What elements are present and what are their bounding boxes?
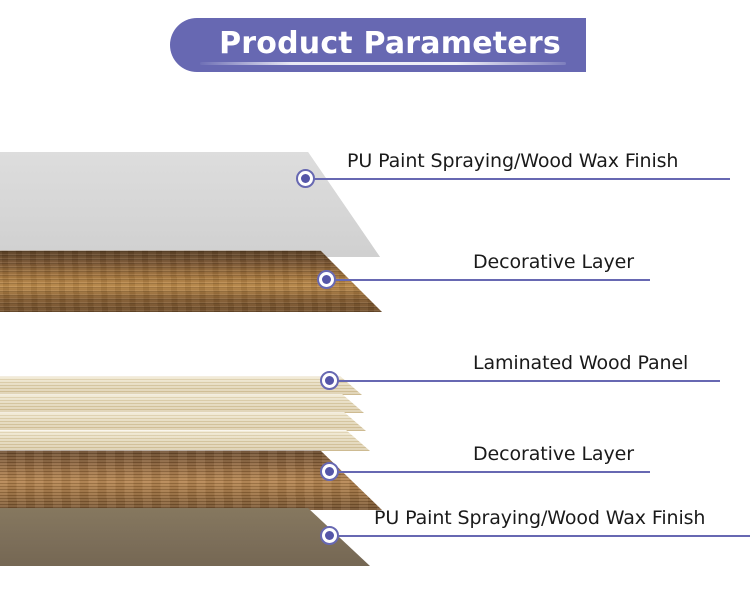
callout-line-bottom-decorative (328, 471, 650, 473)
callout-label-core-panel: Laminated Wood Panel (473, 352, 688, 374)
callout-label-bottom-decorative: Decorative Layer (473, 443, 634, 465)
layer-bottom-veneer (0, 450, 390, 514)
callout-label-top-decorative: Decorative Layer (473, 251, 634, 273)
callout-marker-core-panel[interactable] (320, 371, 339, 390)
callout-line-core-panel (328, 380, 720, 382)
callout-marker-bottom-decorative[interactable] (320, 462, 339, 481)
callout-label-top-finish: PU Paint Spraying/Wood Wax Finish (347, 150, 678, 172)
callout-label-bottom-finish: PU Paint Spraying/Wood Wax Finish (374, 507, 705, 529)
product-parameters-infographic: Product Parameters PU Paint Spraying/Woo… (0, 0, 750, 589)
callout-marker-bottom-finish[interactable] (320, 526, 339, 545)
callout-marker-top-finish[interactable] (296, 169, 315, 188)
layer-stack-illustration (0, 0, 400, 589)
callout-line-bottom-finish (328, 535, 750, 537)
callout-line-top-decorative (325, 279, 650, 281)
layer-core-1 (0, 312, 390, 380)
layer-top-coating (0, 152, 390, 262)
callout-line-top-finish (303, 178, 730, 180)
callout-marker-top-decorative[interactable] (317, 270, 336, 289)
